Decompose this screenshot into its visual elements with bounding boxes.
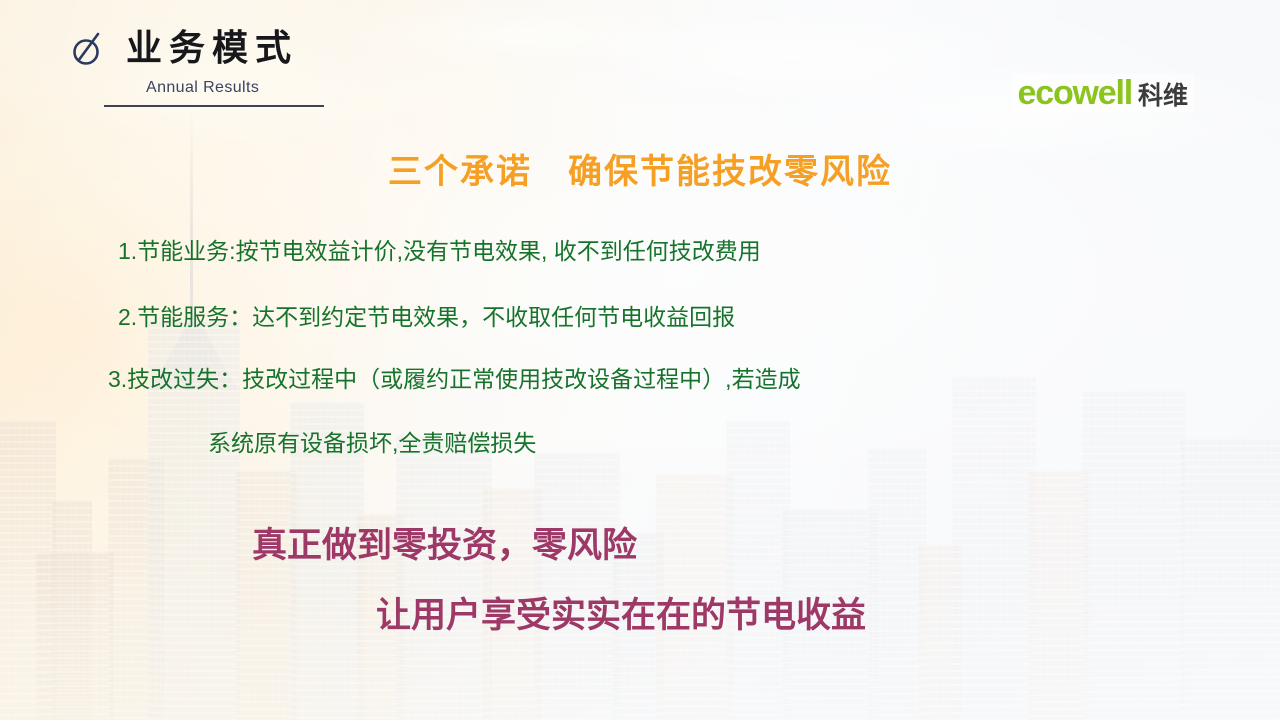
company-logo: ecowell 科维	[1012, 74, 1194, 112]
slide-header: 业务模式 Annual Results	[68, 26, 324, 107]
header-title-row: 业务模式	[68, 26, 324, 70]
section-headline: 三个承诺 确保节能技改零风险	[0, 144, 1280, 193]
slide-canvas: 业务模式 Annual Results ecowell 科维 三个承诺 确保节能…	[0, 0, 1280, 720]
slide-content: 业务模式 Annual Results ecowell 科维 三个承诺 确保节能…	[0, 0, 1280, 720]
logo-chinese-name: 科维	[1138, 84, 1188, 109]
list-item: 1.节能业务:按节电效益计价,没有节电效果, 收不到任何技改费用	[118, 240, 761, 263]
list-item: 3.技改过失：技改过程中（或履约正常使用技改设备过程中）,若造成	[108, 368, 801, 391]
slashed-circle-icon	[68, 26, 108, 70]
logo-wordmark: ecowell	[1018, 76, 1132, 110]
conclusion-line-2: 让用户享受实实在在的节电收益	[376, 598, 866, 633]
list-item: 2.节能服务：达不到约定节电效果，不收取任何节电收益回报	[118, 306, 735, 329]
page-subtitle: Annual Results	[146, 79, 324, 97]
page-title: 业务模式	[126, 30, 298, 66]
list-item-continuation: 系统原有设备损坏,全责赔偿损失	[208, 432, 536, 455]
conclusion-line-1: 真正做到零投资，零风险	[252, 528, 637, 563]
header-divider	[104, 105, 324, 107]
